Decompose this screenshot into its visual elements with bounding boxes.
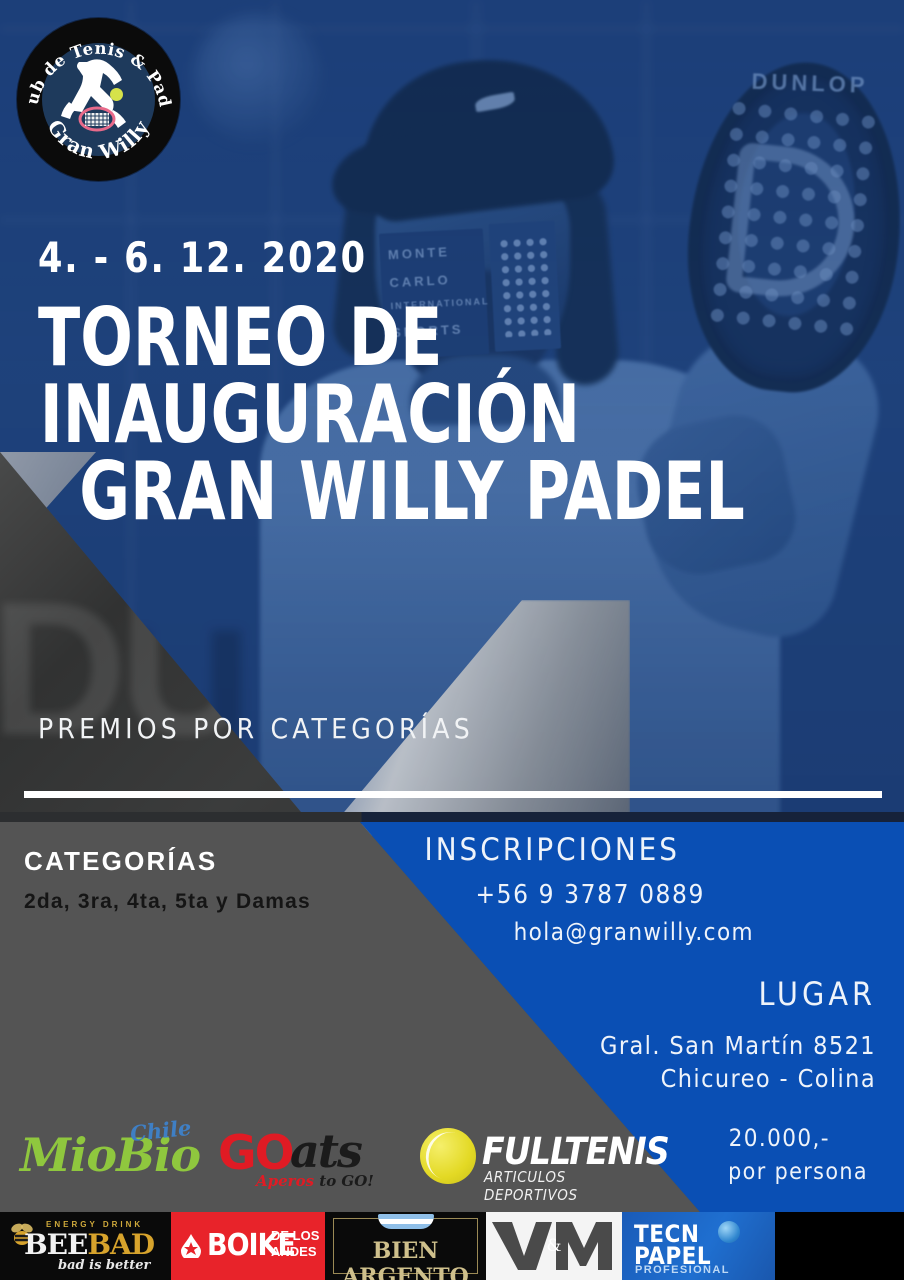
registration-phone[interactable]: +56 9 3787 0889 <box>475 880 705 910</box>
price-per-person: por persona <box>728 1159 868 1185</box>
tecno-line-3: PROFESIONAL <box>635 1264 730 1276</box>
sponsor-miobio: MioBio Chile <box>20 1118 195 1188</box>
sponsor-wm: & <box>486 1212 622 1280</box>
water-drop-icon <box>181 1234 201 1258</box>
wm-ampersand: & <box>546 1236 561 1256</box>
boike-line-2: ANDES <box>271 1245 317 1259</box>
goats-tagline-dark: to GO! <box>319 1172 374 1190</box>
registration-title: INSCRIPCIONES <box>424 832 680 868</box>
goats-tagline: Aperos to GO! <box>256 1172 374 1190</box>
page-title: TORNEO DE INAUGURACIÓN GRAN WILLY PADEL <box>38 300 752 530</box>
categories-list: 2da, 3ra, 4ta, 5ta y Damas <box>24 890 311 914</box>
registration-email[interactable]: hola@granwilly.com <box>514 918 754 946</box>
venue-address-line-2: Chicureo - Colina <box>661 1064 876 1093</box>
title-line-3: GRAN WILLY PADEL <box>38 454 752 531</box>
venue-title: LUGAR <box>758 975 876 1013</box>
goats-tagline-red: Aperos <box>256 1172 314 1190</box>
price-amount: 20.000,- <box>729 1124 830 1152</box>
sponsor-bar: ENERGY DRINK BEEBAD bad is better BOIKE … <box>0 1212 904 1280</box>
categories-title: CATEGORÍAS <box>24 846 217 877</box>
beebad-bee: BEE <box>24 1228 87 1261</box>
sponsor-fulltenis: FULLTENIS ARTICULOS DEPORTIVOS <box>420 1122 630 1188</box>
tecno-o-icon <box>718 1221 740 1243</box>
venue-address-line-1: Gral. San Martín 8521 <box>600 1031 876 1060</box>
beebad-bad: BAD <box>87 1228 154 1261</box>
argentina-flag-icon <box>378 1214 434 1229</box>
title-line-2: INAUGURACIÓN <box>38 377 752 454</box>
prizes-label: PREMIOS POR CATEGORÍAS <box>38 712 474 745</box>
argento-wordmark: BIEN ARGENTO <box>325 1238 486 1280</box>
boike-line-1: DE LOS <box>271 1229 319 1243</box>
fulltenis-subtitle: ARTICULOS DEPORTIVOS <box>484 1168 630 1204</box>
sponsor-tecnopapel: TECN PAPEL PROFESIONAL <box>622 1212 775 1280</box>
tennis-ball-icon <box>110 88 123 101</box>
sponsor-bien-argento: BIEN ARGENTO <box>325 1212 486 1280</box>
divider-rule <box>24 791 882 798</box>
club-logo-art: Club de Tenis & Padel Gran Willy <box>17 18 180 181</box>
title-line-1: TORNEO DE <box>38 300 752 377</box>
sponsor-beebad: ENERGY DRINK BEEBAD bad is better <box>0 1212 171 1280</box>
beebad-tagline: bad is better <box>58 1258 150 1273</box>
beebad-wordmark: BEEBAD <box>24 1228 154 1261</box>
goats-ats: ats <box>290 1124 361 1178</box>
sponsor-bar-blank <box>775 1212 904 1280</box>
club-logo: Club de Tenis & Padel Gran Willy <box>17 18 180 181</box>
event-date: 4. - 6. 12. 2020 <box>38 233 367 282</box>
sponsor-goats: GO ats Aperos to GO! <box>218 1120 378 1192</box>
racket-icon <box>80 108 114 130</box>
tournament-poster: DU P MONTE CARLO INTERNATIONAL SPORTS <box>0 0 904 1280</box>
fulltenis-wordmark: FULLTENIS <box>482 1130 669 1173</box>
sponsor-boike: BOIKE DE LOS ANDES <box>171 1212 325 1280</box>
